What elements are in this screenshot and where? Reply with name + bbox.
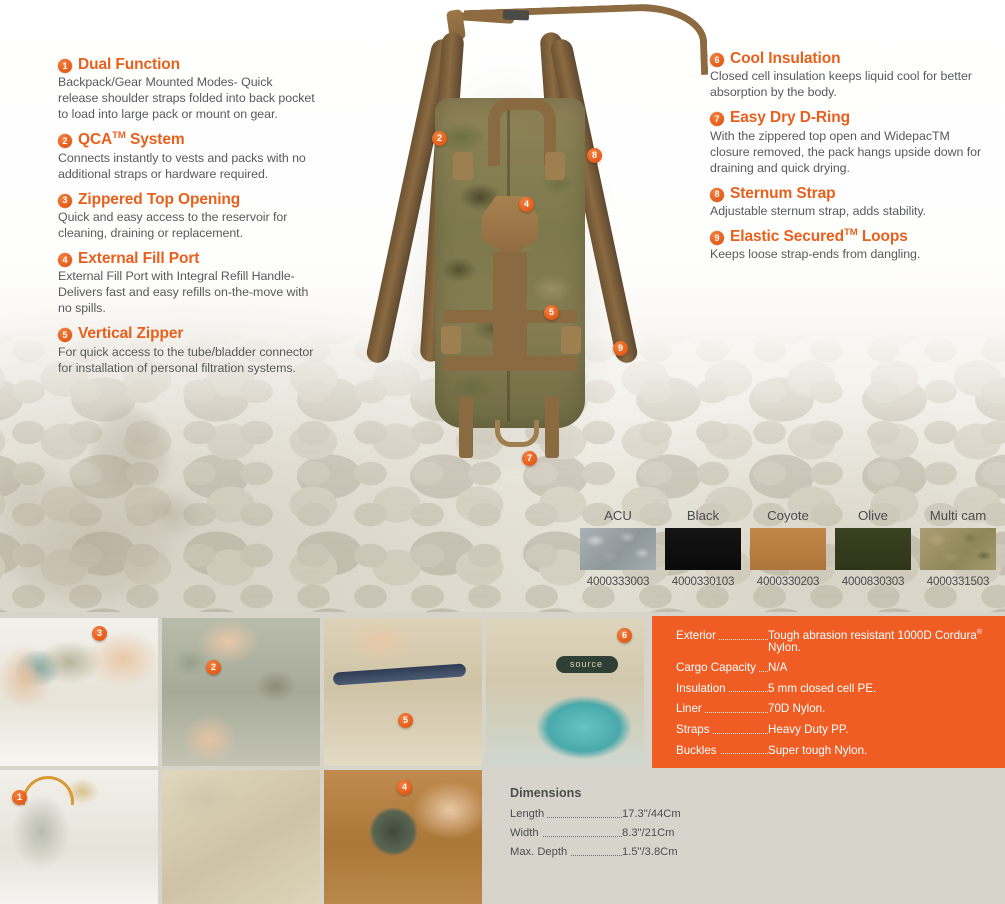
feature-number-badge-icon: 2 <box>58 134 72 148</box>
feature-number-badge-icon: 4 <box>58 253 72 267</box>
spec-label: Straps <box>676 724 768 736</box>
feature-heading: 4 External Fill Port <box>58 250 316 267</box>
soldier-background-image <box>0 392 350 612</box>
dimensions-title: Dimensions <box>510 786 730 800</box>
spec-label-text: Cargo Capacity <box>676 662 759 674</box>
swatch-part-number: 4000330103 <box>665 575 741 588</box>
feature-description: Adjustable sternum strap, adds stability… <box>710 203 992 219</box>
hose-clip-icon <box>503 10 529 21</box>
swatch-part-number: 4000330203 <box>750 575 826 588</box>
direction-arrow-icon <box>22 776 74 805</box>
dimension-value: 17.3"/44Cm <box>622 808 681 820</box>
feature-heading: 5 Vertical Zipper <box>58 325 316 342</box>
feature-description: For quick access to the tube/bladder con… <box>58 344 316 376</box>
buckle-upper-left <box>453 152 473 180</box>
feature-title: Easy Dry D-Ring <box>730 109 850 126</box>
zipper-detail <box>333 664 466 686</box>
photo-callout-2: 2 <box>206 660 221 675</box>
feature-heading: 9 Elastic SecuredTM Loops <box>710 228 992 245</box>
product-callout-2: 2 <box>432 131 447 146</box>
lower-strap-left <box>459 396 473 458</box>
dimension-label: Length <box>510 808 622 820</box>
feature-heading: 2 QCATM System <box>58 131 316 148</box>
dimension-label-text: Max. Depth <box>510 846 570 858</box>
feature-item-8: 8 Sternum Strap Adjustable sternum strap… <box>710 185 992 219</box>
feature-heading: 7 Easy Dry D-Ring <box>710 109 992 126</box>
swatch-name: Black <box>665 508 741 523</box>
swatch-olive[interactable]: Olive 4000830303 <box>835 508 911 588</box>
product-callout-4: 4 <box>519 197 534 212</box>
spec-label: Buckles <box>676 745 768 757</box>
spec-row-straps: Straps Heavy Duty PP. <box>652 724 1005 736</box>
photo-callout-4: 4 <box>397 780 412 795</box>
spec-label-text: Insulation <box>676 683 729 695</box>
swatch-acu[interactable]: ACU 4000333003 <box>580 508 656 588</box>
swatch-chip[interactable] <box>835 528 911 570</box>
feature-description: Quick and easy access to the reservoir f… <box>58 209 316 241</box>
buckle-lower-left <box>441 326 461 354</box>
feature-number-badge-icon: 7 <box>710 112 724 126</box>
feature-title: Elastic SecuredTM Loops <box>730 228 908 245</box>
swatch-chip[interactable] <box>920 528 996 570</box>
product-hero-image: 2 8 4 5 9 7 <box>355 0 655 490</box>
feature-description: Keeps loose strap-ends from dangling. <box>710 246 992 262</box>
product-callout-8: 8 <box>587 148 602 163</box>
trademark-mark: TM <box>112 130 126 141</box>
feature-description: Closed cell insulation keeps liquid cool… <box>710 68 992 100</box>
feature-list-right: 6 Cool Insulation Closed cell insulation… <box>710 50 992 271</box>
spec-value-suffix: Nylon. <box>768 641 801 654</box>
feature-heading: 8 Sternum Strap <box>710 185 992 202</box>
photo-callout-6: 6 <box>617 628 632 643</box>
swatch-multicam[interactable]: Multi cam 4000331503 <box>920 508 996 588</box>
spec-value: Tough abrasion resistant 1000D Cordura® … <box>768 630 1005 653</box>
product-callout-5: 5 <box>544 305 559 320</box>
feature-title: Zippered Top Opening <box>78 191 240 208</box>
feature-description: External Fill Port with Integral Refill … <box>58 268 316 316</box>
feature-item-7: 7 Easy Dry D-Ring With the zippered top … <box>710 109 992 175</box>
spec-row-cargo-capacity: Cargo Capacity N/A <box>652 662 1005 674</box>
detail-photo-strap <box>162 770 320 904</box>
feature-number-badge-icon: 5 <box>58 328 72 342</box>
dimension-label-text: Length <box>510 808 547 820</box>
drink-hose <box>464 2 708 83</box>
spec-label-text: Liner <box>676 703 705 715</box>
infographic-page: 1 Dual Function Backpack/Gear Mounted Mo… <box>0 0 1005 904</box>
specifications-panel: Exterior Tough abrasion resistant 1000D … <box>652 616 1005 768</box>
detail-photo-6: source 6 <box>486 618 644 766</box>
feature-item-9: 9 Elastic SecuredTM Loops Keeps loose st… <box>710 228 992 262</box>
swatch-name: Multi cam <box>920 508 996 523</box>
detail-photo-1: 1 <box>0 770 158 904</box>
feature-description: Backpack/Gear Mounted Modes- Quick relea… <box>58 74 316 122</box>
feature-item-2: 2 QCATM System Connects instantly to ves… <box>58 131 316 181</box>
spec-value: Super tough Nylon. <box>768 745 867 757</box>
product-callout-9: 9 <box>613 341 628 356</box>
swatch-part-number: 4000830303 <box>835 575 911 588</box>
swatch-black[interactable]: Black 4000330103 <box>665 508 741 588</box>
detail-photo-4: 4 <box>324 770 482 904</box>
dimension-value: 1.5"/3.8Cm <box>622 846 678 858</box>
feature-title-suffix: System <box>126 131 185 148</box>
spec-row-buckles: Buckles Super tough Nylon. <box>652 745 1005 757</box>
swatch-name: Olive <box>835 508 911 523</box>
photo-callout-5: 5 <box>398 713 413 728</box>
feature-title: External Fill Port <box>78 250 199 267</box>
dimension-row-width: Width 8.3"/21Cm <box>510 827 730 839</box>
product-callout-7: 7 <box>522 451 537 466</box>
feature-title: Cool Insulation <box>730 50 840 67</box>
feature-title-main: QCA <box>78 131 112 148</box>
color-options: ACU 4000333003 Black 4000330103 Coyote 4… <box>580 508 1000 588</box>
lower-strap-right <box>545 396 559 458</box>
detail-photo-3: 3 <box>0 618 158 766</box>
webbing-strap-center <box>493 252 527 362</box>
feature-description: With the zippered top open and WidepacTM… <box>710 128 992 176</box>
swatch-coyote[interactable]: Coyote 4000330203 <box>750 508 826 588</box>
feature-number-badge-icon: 1 <box>58 59 72 73</box>
dimensions-panel: Dimensions Length 17.3"/44Cm Width 8.3"/… <box>510 786 730 858</box>
feature-item-4: 4 External Fill Port External Fill Port … <box>58 250 316 316</box>
feature-item-5: 5 Vertical Zipper For quick access to th… <box>58 325 316 375</box>
photo-callout-1: 1 <box>12 790 27 805</box>
spec-value: Heavy Duty PP. <box>768 724 848 736</box>
trademark-mark: TM <box>844 227 858 238</box>
swatch-chip[interactable] <box>750 528 826 570</box>
swatch-name: Coyote <box>750 508 826 523</box>
easy-dry-d-ring <box>495 420 539 447</box>
brand-logo: source <box>556 656 618 673</box>
feature-title: Sternum Strap <box>730 185 836 202</box>
swatch-chip[interactable] <box>580 528 656 570</box>
spec-label-text: Buckles <box>676 745 720 757</box>
spec-label-text: Straps <box>676 724 713 736</box>
swatch-row: ACU 4000333003 Black 4000330103 Coyote 4… <box>580 508 1000 588</box>
registered-mark: ® <box>977 627 982 636</box>
feature-number-badge-icon: 3 <box>58 194 72 208</box>
feature-title: Vertical Zipper <box>78 325 183 342</box>
feature-heading: 3 Zippered Top Opening <box>58 191 316 208</box>
spec-label: Insulation <box>676 683 768 695</box>
feature-item-6: 6 Cool Insulation Closed cell insulation… <box>710 50 992 100</box>
feature-heading: 1 Dual Function <box>58 56 316 73</box>
webbing-strap-lower <box>443 356 577 371</box>
swatch-name: ACU <box>580 508 656 523</box>
photo-callout-3: 3 <box>92 626 107 641</box>
swatch-part-number: 4000331503 <box>920 575 996 588</box>
feature-title-main: Elastic Secured <box>730 228 844 245</box>
spec-label: Cargo Capacity <box>676 662 768 674</box>
dimension-row-max-depth: Max. Depth 1.5"/3.8Cm <box>510 846 730 858</box>
spec-value: 70D Nylon. <box>768 703 825 715</box>
buckle-lower-right <box>561 326 581 354</box>
buckle-upper-right <box>545 152 565 180</box>
spec-row-insulation: Insulation 5 mm closed cell PE. <box>652 683 1005 695</box>
feature-description: Connects instantly to vests and packs wi… <box>58 150 316 182</box>
spec-row-liner: Liner 70D Nylon. <box>652 703 1005 715</box>
dimension-value: 8.3"/21Cm <box>622 827 674 839</box>
spec-value: 5 mm closed cell PE. <box>768 683 876 695</box>
feature-list-left: 1 Dual Function Backpack/Gear Mounted Mo… <box>58 56 316 385</box>
spec-label-text: Exterior <box>676 630 719 642</box>
spec-value: N/A <box>768 662 787 674</box>
feature-item-3: 3 Zippered Top Opening Quick and easy ac… <box>58 191 316 241</box>
spec-label: Liner <box>676 703 768 715</box>
swatch-part-number: 4000333003 <box>580 575 656 588</box>
detail-photo-5: 5 <box>324 618 482 766</box>
dimension-row-length: Length 17.3"/44Cm <box>510 808 730 820</box>
swatch-chip[interactable] <box>665 528 741 570</box>
feature-title: Dual Function <box>78 56 180 73</box>
feature-number-badge-icon: 8 <box>710 188 724 202</box>
feature-heading: 6 Cool Insulation <box>710 50 992 67</box>
feature-title: QCATM System <box>78 131 185 148</box>
dimension-label: Max. Depth <box>510 846 622 858</box>
spec-label: Exterior <box>676 630 768 642</box>
dimension-label: Width <box>510 827 622 839</box>
detail-photo-2: 2 <box>162 618 320 766</box>
spec-row-exterior: Exterior Tough abrasion resistant 1000D … <box>652 630 1005 653</box>
feature-number-badge-icon: 9 <box>710 231 724 245</box>
feature-title-suffix: Loops <box>858 228 908 245</box>
feature-number-badge-icon: 6 <box>710 53 724 67</box>
feature-item-1: 1 Dual Function Backpack/Gear Mounted Mo… <box>58 56 316 122</box>
dimension-label-text: Width <box>510 827 542 839</box>
